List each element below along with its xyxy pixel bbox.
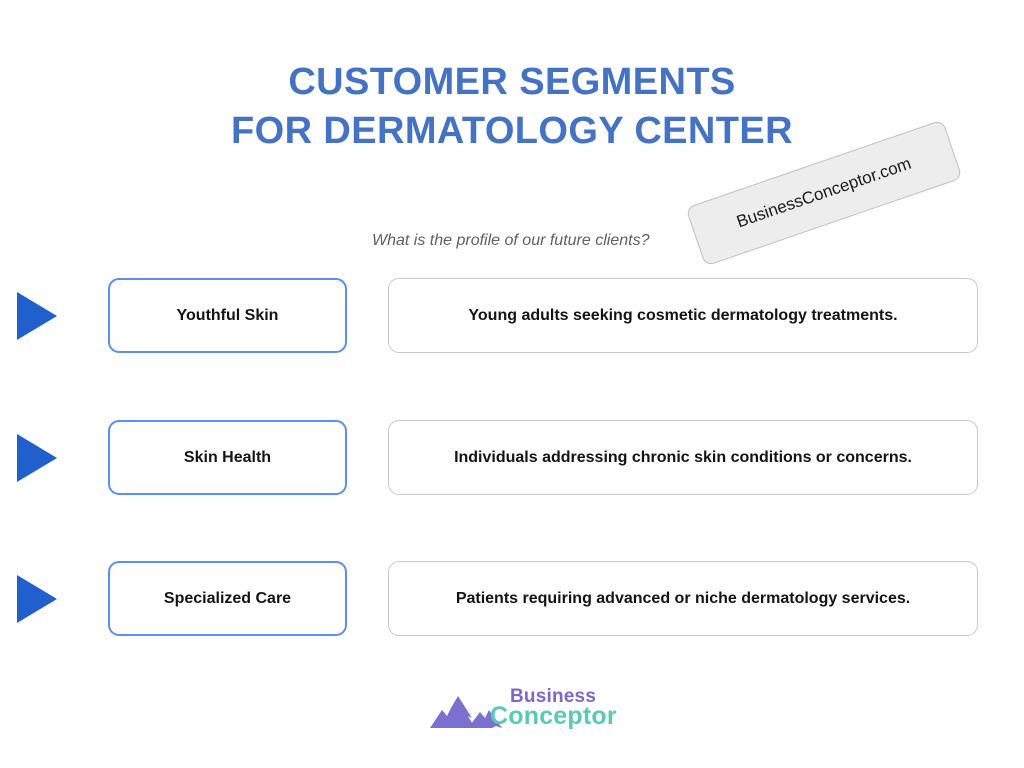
- segment-description-box[interactable]: Young adults seeking cosmetic dermatolog…: [388, 278, 978, 353]
- logo-wordmark: Business Conceptor: [490, 684, 610, 736]
- brand-logo: Business Conceptor: [428, 684, 608, 736]
- segment-description-box[interactable]: Patients requiring advanced or niche der…: [388, 561, 978, 636]
- segment-row: Skin Health Individuals addressing chron…: [0, 420, 1024, 496]
- segment-label-box[interactable]: Youthful Skin: [108, 278, 347, 353]
- triangle-right-icon: [17, 575, 57, 623]
- segment-label: Specialized Care: [164, 590, 291, 608]
- slide-canvas: CUSTOMER SEGMENTS FOR DERMATOLOGY CENTER…: [0, 0, 1024, 768]
- triangle-right-icon: [17, 292, 57, 340]
- triangle-right-icon: [17, 434, 57, 482]
- segment-label-box[interactable]: Specialized Care: [108, 561, 347, 636]
- segment-label: Youthful Skin: [177, 307, 279, 325]
- page-title: CUSTOMER SEGMENTS FOR DERMATOLOGY CENTER: [0, 58, 1024, 155]
- segment-description: Patients requiring advanced or niche der…: [456, 590, 910, 608]
- segment-description: Young adults seeking cosmetic dermatolog…: [468, 307, 897, 325]
- segment-description: Individuals addressing chronic skin cond…: [454, 449, 912, 467]
- segment-row: Specialized Care Patients requiring adva…: [0, 561, 1024, 637]
- title-line-1: CUSTOMER SEGMENTS: [0, 58, 1024, 107]
- segment-label-box[interactable]: Skin Health: [108, 420, 347, 495]
- segment-row: Youthful Skin Young adults seeking cosme…: [0, 278, 1024, 354]
- logo-word-conceptor: Conceptor: [490, 702, 617, 731]
- segment-label: Skin Health: [184, 449, 271, 467]
- watermark-text: BusinessConceptor.com: [734, 154, 914, 233]
- segment-description-box[interactable]: Individuals addressing chronic skin cond…: [388, 420, 978, 495]
- subtitle-question: What is the profile of our future client…: [372, 232, 649, 250]
